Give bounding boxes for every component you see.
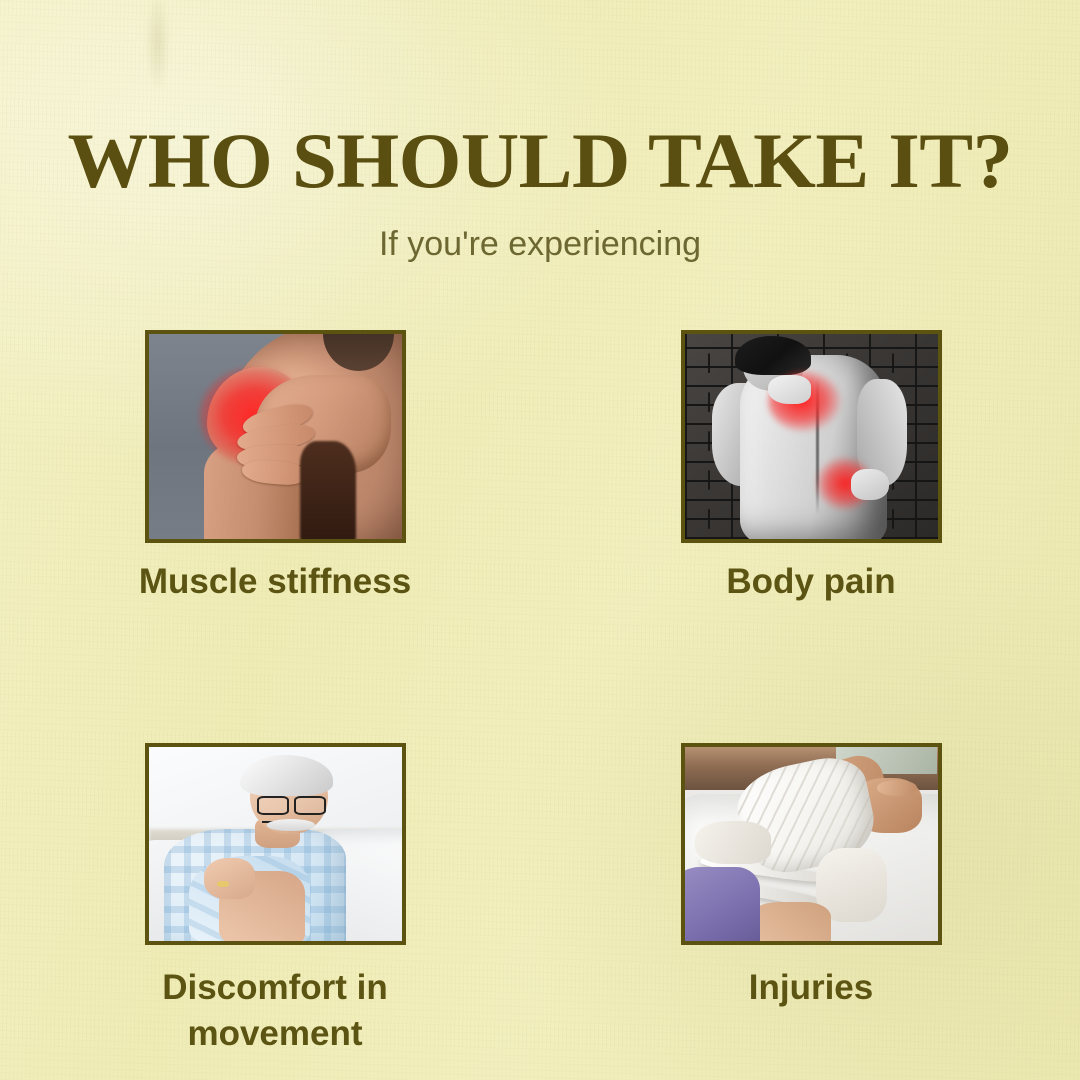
back-pain-photo bbox=[685, 334, 938, 539]
symptom-label-body-pain: Body pain bbox=[726, 559, 895, 605]
poster-canvas: WHO SHOULD TAKE IT? If you're experienci… bbox=[0, 0, 1080, 1080]
bandaged-leg-photo bbox=[685, 747, 938, 941]
symptom-card-muscle-stiffness[interactable]: Muscle stiffness bbox=[139, 330, 411, 605]
symptom-card-injuries[interactable]: Injuries bbox=[681, 743, 942, 1011]
page-subtitle: If you're experiencing bbox=[0, 226, 1080, 263]
grid-column-left: Muscle stiffness bbox=[0, 330, 540, 605]
elderly-shoulder-photo bbox=[149, 747, 402, 941]
poster-header: WHO SHOULD TAKE IT? If you're experienci… bbox=[0, 122, 1080, 263]
symptom-label-discomfort-in-movement: Discomfort in movement bbox=[125, 965, 425, 1057]
shoulder-pain-photo-frame bbox=[145, 330, 406, 543]
page-title: WHO SHOULD TAKE IT? bbox=[0, 122, 1080, 200]
symptom-card-body-pain[interactable]: Body pain bbox=[681, 330, 942, 605]
grid-column-left-row2: Discomfort in movement bbox=[0, 605, 540, 1057]
shoulder-pain-photo bbox=[149, 334, 402, 539]
grid-column-right: Body pain bbox=[540, 330, 1080, 605]
grid-column-right-row2: Injuries bbox=[540, 605, 1080, 1057]
symptom-label-injuries: Injuries bbox=[749, 965, 873, 1011]
glasses-icon bbox=[257, 796, 325, 815]
symptom-grid: Muscle stiffness bbox=[0, 330, 1080, 1058]
symptom-card-discomfort-in-movement[interactable]: Discomfort in movement bbox=[125, 743, 425, 1057]
symptom-label-muscle-stiffness: Muscle stiffness bbox=[139, 559, 411, 605]
bandaged-leg-photo-frame bbox=[681, 743, 942, 945]
elderly-shoulder-photo-frame bbox=[145, 743, 406, 945]
back-pain-photo-frame bbox=[681, 330, 942, 543]
